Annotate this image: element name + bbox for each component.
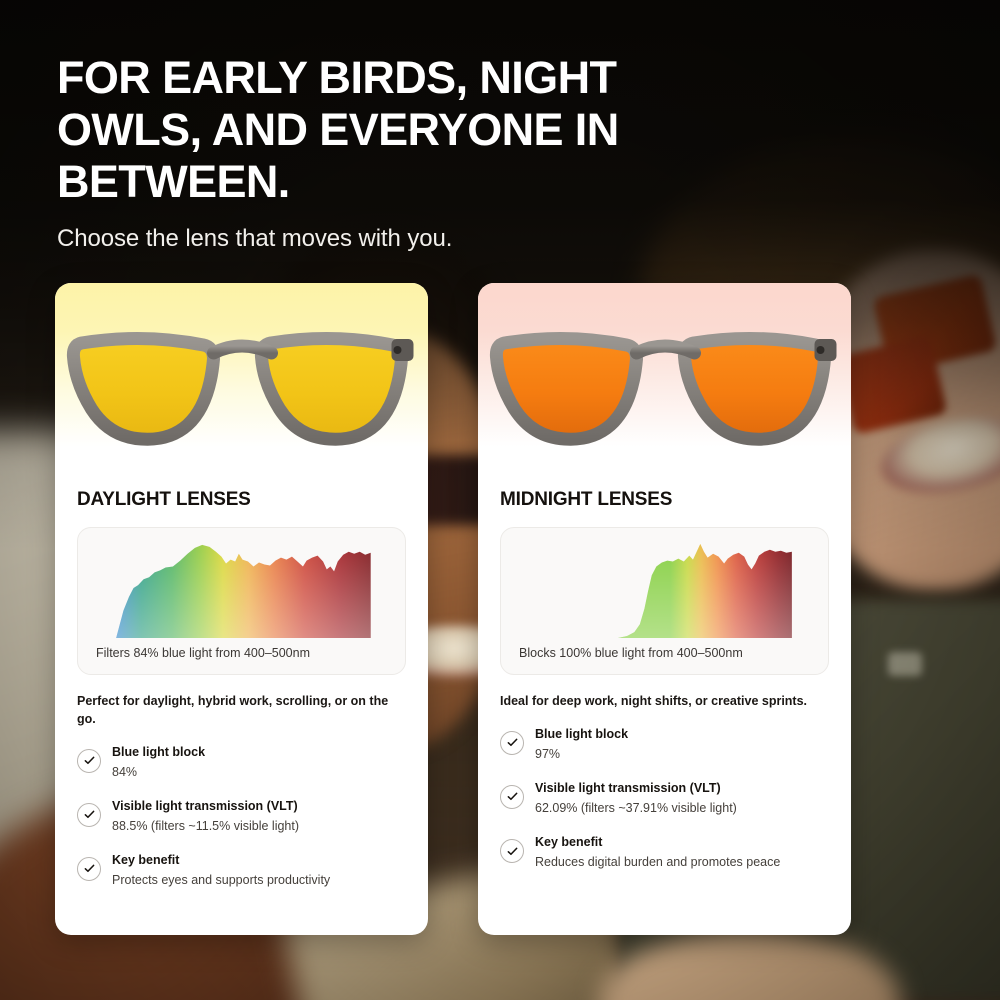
spectrum-caption-daylight: Filters 84% blue light from 400–500nm [96,646,310,660]
feature-value: 88.5% (filters ~11.5% visible light) [112,817,406,835]
feature-value: 84% [112,763,406,781]
feature-list-daylight: Blue light block 84% Visible light trans… [77,743,406,889]
feature-label: Blue light block [112,745,205,759]
card-body-midnight: MIDNIGHT LENSES [478,469,851,871]
feature-value: 97% [535,745,829,763]
page-title: FOR EARLY BIRDS, NIGHT OWLS, AND EVERYON… [57,52,667,209]
spectrum-plot-daylight [96,540,389,638]
card-body-daylight: DAYLIGHT LENSES [55,469,428,889]
list-item: Blue light block 97% [500,725,829,763]
feature-label: Visible light transmission (VLT) [535,781,721,795]
feature-value: Protects eyes and supports productivity [112,871,406,889]
card-hero-midnight [478,283,851,469]
spectrum-chart-daylight: Filters 84% blue light from 400–500nm [77,527,406,675]
feature-value: Reduces digital burden and promotes peac… [535,853,829,871]
spectrum-caption-midnight: Blocks 100% blue light from 400–500nm [519,646,743,660]
check-circle-icon [77,803,101,827]
check-circle-icon [77,857,101,881]
feature-label: Key benefit [112,853,179,867]
list-item: Visible light transmission (VLT) 88.5% (… [77,797,406,835]
feature-label: Visible light transmission (VLT) [112,799,298,813]
check-circle-icon [500,785,524,809]
feature-label: Key benefit [535,835,602,849]
hero-header: FOR EARLY BIRDS, NIGHT OWLS, AND EVERYON… [57,52,667,253]
check-circle-icon [77,749,101,773]
eyeglasses-orange-lens-icon [478,313,851,469]
eyeglasses-yellow-lens-icon [55,313,428,469]
card-title-midnight: MIDNIGHT LENSES [500,489,829,511]
card-daylight[interactable]: DAYLIGHT LENSES [55,283,428,935]
card-hero-daylight [55,283,428,469]
list-item: Visible light transmission (VLT) 62.09% … [500,779,829,817]
list-item: Key benefit Reduces digital burden and p… [500,833,829,871]
list-item: Blue light block 84% [77,743,406,781]
check-circle-icon [500,839,524,863]
page-subtitle: Choose the lens that moves with you. [57,225,667,253]
card-blurb-daylight: Perfect for daylight, hybrid work, scrol… [77,693,406,729]
check-circle-icon [500,731,524,755]
card-blurb-midnight: Ideal for deep work, night shifts, or cr… [500,693,829,711]
list-item: Key benefit Protects eyes and supports p… [77,851,406,889]
feature-list-midnight: Blue light block 97% Visible light trans… [500,725,829,871]
feature-label: Blue light block [535,727,628,741]
feature-value: 62.09% (filters ~37.91% visible light) [535,799,829,817]
spectrum-chart-midnight: Blocks 100% blue light from 400–500nm [500,527,829,675]
spectrum-plot-midnight [519,540,812,638]
card-title-daylight: DAYLIGHT LENSES [77,489,406,511]
card-midnight[interactable]: MIDNIGHT LENSES [478,283,851,935]
